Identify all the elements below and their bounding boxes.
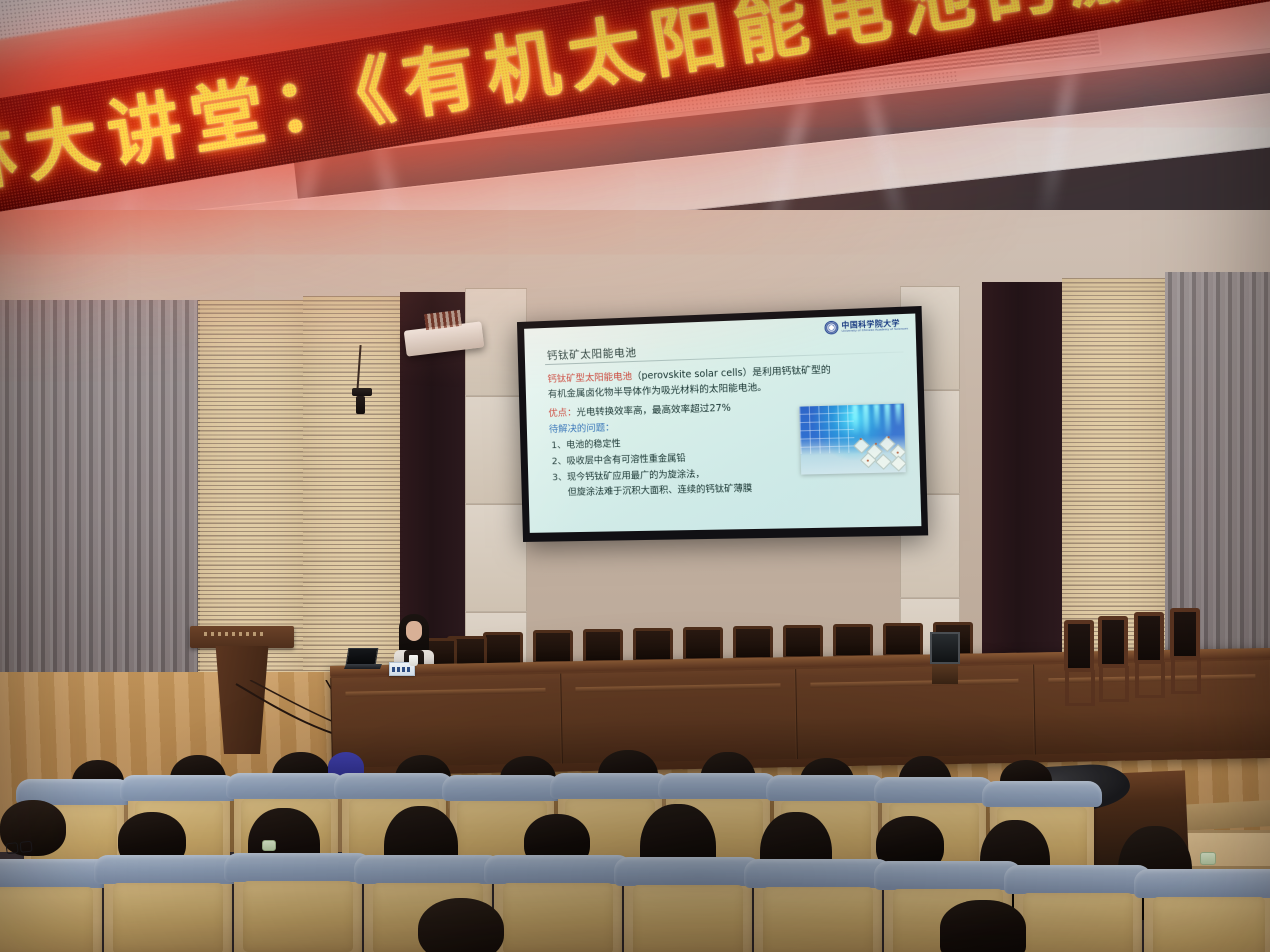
wall-mounted-sensor bbox=[352, 388, 372, 396]
presentation-slide: 中国科学院大学 University of Chinese Academy of… bbox=[524, 314, 921, 533]
university-logo: 中国科学院大学 University of Chinese Academy of… bbox=[824, 318, 908, 335]
stage-monitor bbox=[930, 632, 960, 684]
audience-head bbox=[418, 898, 504, 952]
auditorium-seat bbox=[754, 866, 882, 952]
projection-screen: 中国科学院大学 University of Chinese Academy of… bbox=[517, 306, 928, 542]
auditorium-seat bbox=[494, 862, 622, 952]
wall-panel-plain bbox=[465, 396, 527, 504]
stage-backdrop-curtain-right bbox=[982, 282, 1062, 682]
eyeglasses bbox=[6, 841, 33, 853]
audience-head bbox=[940, 900, 1026, 952]
wall-mounted-sensor-body bbox=[356, 396, 365, 414]
wall-panel-plain bbox=[465, 504, 527, 612]
auditorium-seat bbox=[0, 866, 102, 952]
auditorium-seat bbox=[1014, 872, 1142, 952]
slide-highlight-term: 钙钛矿型太阳能电池 bbox=[547, 371, 632, 385]
hair-clip bbox=[262, 840, 276, 851]
stage-side-chairs bbox=[1060, 612, 1270, 732]
logo-name-en: University of Chinese Academy of Science… bbox=[842, 327, 909, 333]
auditorium-seat bbox=[624, 864, 752, 952]
auditorium-seat bbox=[104, 862, 232, 952]
slide-title: 钙钛矿太阳能电池 bbox=[547, 345, 637, 363]
slide-line1-rest: 是利用钙钛矿型的 bbox=[752, 364, 831, 378]
coffee-cup bbox=[409, 655, 418, 666]
ucas-seal-icon bbox=[824, 321, 838, 335]
auditorium-photo: 杨林大讲堂：《有机太阳能电池的激发态过程调控》——蔡芸皓教 中国科学院大学 Un… bbox=[0, 0, 1270, 952]
slide-advantage-label: 优点： bbox=[548, 407, 576, 419]
slide-advantage-text: 光电转换效率高，最高效率超过27% bbox=[576, 403, 731, 419]
perovskite-structure-figure bbox=[799, 404, 906, 475]
auditorium-seat bbox=[234, 860, 362, 952]
lectern-podium bbox=[190, 626, 294, 754]
auditorium-seat bbox=[1144, 876, 1270, 952]
hair-clip bbox=[1200, 852, 1216, 865]
presenter-laptop bbox=[345, 648, 381, 670]
